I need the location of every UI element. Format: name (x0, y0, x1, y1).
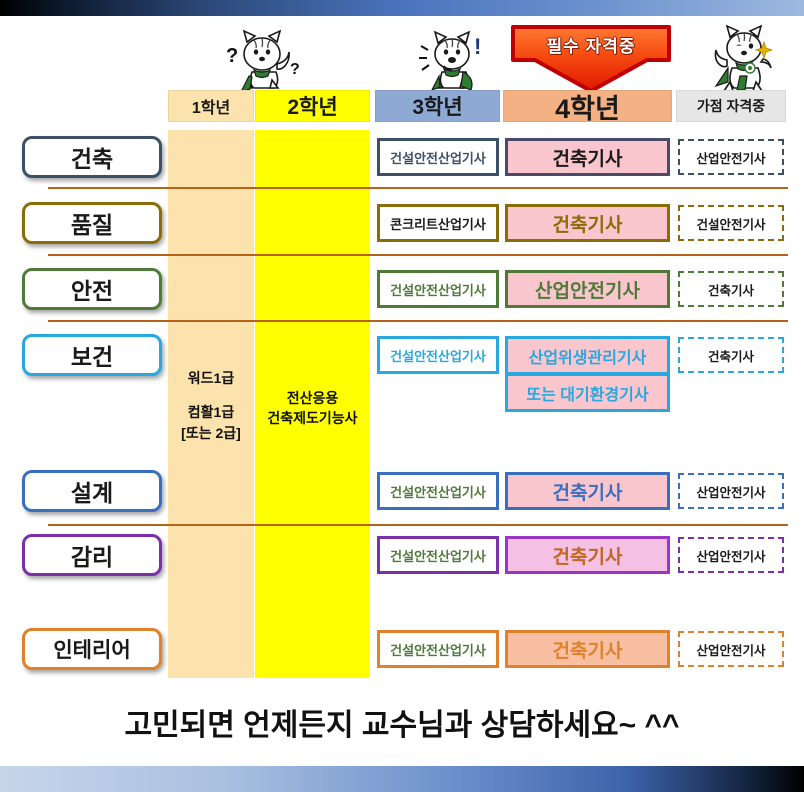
bonus-cert-pumjil[interactable]: 건설안전기사 (678, 205, 784, 241)
y4-cert-anjeon[interactable]: 산업안전기사 (505, 270, 670, 308)
year2-line2: 건축제도기능사 (255, 408, 370, 428)
category-label-interior[interactable]: 인테리어 (22, 628, 162, 670)
required-certificate-banner: 필수 자격중 (507, 24, 675, 94)
cert-text: 건설안전산업기사 (390, 640, 486, 659)
bonus-cert-geonchuk[interactable]: 산업안전기사 (678, 139, 784, 175)
cert-text: 콘크리트산업기사 (390, 214, 486, 233)
row-separator (48, 187, 788, 189)
down-arrow-icon (507, 24, 675, 94)
y4-cert-pumjil[interactable]: 건축기사 (505, 204, 670, 242)
row-separator (48, 254, 788, 256)
y3-cert-anjeon[interactable]: 건설안전산업기사 (377, 270, 499, 308)
top-decorative-bar (0, 0, 804, 16)
y4-cert-geonchuk[interactable]: 건축기사 (505, 138, 670, 176)
category-label-seolgye[interactable]: 설계 (22, 470, 162, 512)
cert-text: 건축기사 (708, 346, 754, 365)
slide-root: ? ? (0, 0, 804, 792)
year2-merged-text: 전산응용 건축제도기능사 (255, 388, 370, 429)
cert-text: 산업위생관리기사 (529, 344, 647, 368)
svg-text:!: ! (474, 34, 481, 59)
y4-cert-bogeon-alternate[interactable]: 또는 대기환경기사 (505, 374, 670, 412)
year1-line1: 워드1급 (168, 368, 254, 388)
column-header-y3: 3학년 (375, 90, 500, 122)
cert-text: 건설안전산업기사 (390, 148, 486, 167)
cert-text: 건설안전산업기사 (390, 482, 486, 501)
category-label-gamri[interactable]: 감리 (22, 534, 162, 576)
category-text: 감리 (71, 538, 113, 572)
cert-text: 산업안전기사 (696, 640, 765, 659)
y4-cert-gamri[interactable]: 건축기사 (505, 536, 670, 574)
footer-caption: 고민되면 언제든지 교수님과 상담하세요~ ^^ (0, 700, 804, 744)
row-separator (48, 320, 788, 322)
cert-text: 산업안전기사 (535, 276, 640, 303)
category-text: 건축 (71, 140, 113, 174)
cert-text: 건설안전산업기사 (390, 280, 486, 299)
column-header-y2: 2학년 (255, 90, 370, 122)
bonus-cert-gamri[interactable]: 산업안전기사 (678, 537, 784, 573)
y3-cert-geonchuk[interactable]: 건설안전산업기사 (377, 138, 499, 176)
cert-text: 산업안전기사 (696, 546, 765, 565)
year1-merged-text: 워드1급 컴활1급 [또는 2급] (168, 368, 254, 443)
category-label-anjeon[interactable]: 안전 (22, 268, 162, 310)
cert-text: 산업안전기사 (696, 482, 765, 501)
cert-text: 건설안전산업기사 (390, 546, 486, 565)
y4-cert-interior[interactable]: 건축기사 (505, 630, 670, 668)
cert-text: 건축기사 (553, 210, 623, 237)
year2-line1: 전산응용 (255, 388, 370, 408)
y4-cert-bogeon-primary[interactable]: 산업위생관리기사 (505, 336, 670, 374)
category-label-geonchuk[interactable]: 건축 (22, 136, 162, 178)
y3-cert-gamri[interactable]: 건설안전산업기사 (377, 536, 499, 574)
cert-text: 건설안전산업기사 (390, 346, 486, 365)
tiger-surprised-mascot: ! (408, 20, 500, 92)
tiger-questioning-mascot: ? ? (214, 20, 314, 92)
bonus-cert-seolgye[interactable]: 산업안전기사 (678, 473, 784, 509)
year1-line2: 컴활1급 (168, 402, 254, 422)
cert-text: 산업안전기사 (696, 148, 765, 167)
bottom-decorative-bar (0, 766, 804, 792)
y3-cert-pumjil[interactable]: 콘크리트산업기사 (377, 204, 499, 242)
category-text: 품질 (71, 206, 113, 240)
cert-text: 건축기사 (708, 280, 754, 299)
category-text: 안전 (71, 272, 113, 306)
category-text: 보건 (71, 338, 113, 372)
category-label-pumjil[interactable]: 품질 (22, 202, 162, 244)
bonus-cert-bogeon[interactable]: 건축기사 (678, 337, 784, 373)
column-header-y1: 1학년 (168, 90, 254, 122)
y3-cert-interior[interactable]: 건설안전산업기사 (377, 630, 499, 668)
category-label-bogeon[interactable]: 보건 (22, 334, 162, 376)
y3-cert-seolgye[interactable]: 건설안전산업기사 (377, 472, 499, 510)
svg-text:?: ? (226, 45, 238, 67)
cert-text: 건축기사 (553, 542, 623, 569)
category-text: 설계 (71, 474, 113, 508)
column-header-bonus: 가점 자격중 (676, 90, 786, 122)
bonus-cert-interior[interactable]: 산업안전기사 (678, 631, 784, 667)
y4-cert-seolgye[interactable]: 건축기사 (505, 472, 670, 510)
column-header-y4: 4학년 (503, 90, 672, 122)
tiger-proud-mascot (700, 18, 790, 92)
year1-line3: [또는 2급] (168, 423, 254, 443)
cert-text: 또는 대기환경기사 (526, 381, 648, 405)
y3-cert-bogeon[interactable]: 건설안전산업기사 (377, 336, 499, 374)
cert-text: 건축기사 (553, 478, 623, 505)
category-text: 인테리어 (53, 634, 130, 664)
cert-text: 건축기사 (553, 636, 623, 663)
bonus-cert-anjeon[interactable]: 건축기사 (678, 271, 784, 307)
year-header-row: 1학년 2학년 3학년 4학년 가점 자격중 (0, 90, 804, 122)
cert-text: 건축기사 (553, 144, 623, 171)
cert-text: 건설안전기사 (696, 214, 765, 233)
row-separator (48, 524, 788, 526)
svg-text:?: ? (290, 61, 300, 78)
